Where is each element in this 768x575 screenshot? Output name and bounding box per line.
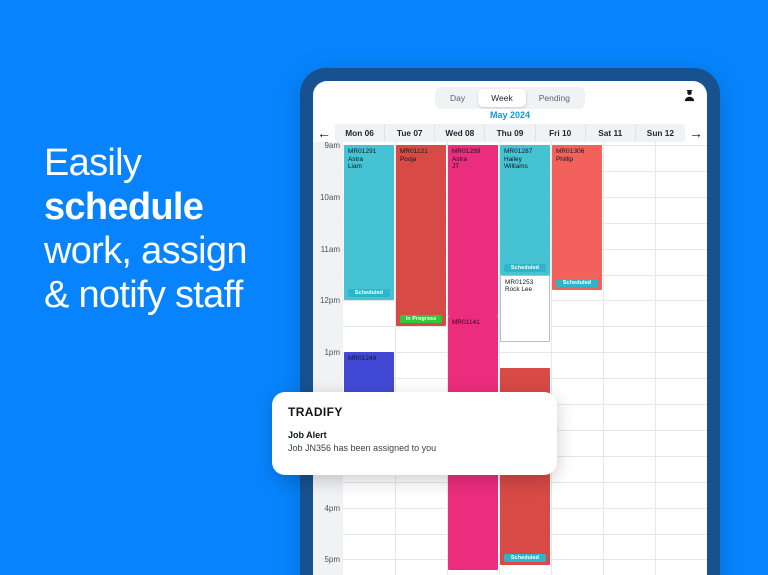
calendar-event[interactable]: MR01306PhillipScheduled — [552, 145, 602, 290]
headline-line-2: schedule — [44, 185, 306, 229]
calendar-grid[interactable]: MR01291AstraLiamScheduledMR01121PoojaIn … — [343, 142, 707, 575]
calendar-event[interactable]: MR01299AstraJT — [448, 145, 498, 316]
page-title: Easily schedule work, assign & notify st… — [44, 141, 306, 317]
arrow-right-icon[interactable]: → — [685, 124, 707, 142]
notification-app-name: TRADIFY — [288, 405, 541, 419]
view-tab-pending[interactable]: Pending — [526, 89, 583, 107]
time-label-4pm: 4pm — [324, 504, 340, 513]
promo-screenshot: Easily schedule work, assign & notify st… — [0, 0, 768, 575]
event-assignee: Liam — [348, 163, 391, 171]
grid-vline — [655, 142, 656, 575]
time-label-12pm: 12pm — [320, 296, 340, 305]
event-assignee: Rock Lee — [505, 286, 546, 294]
event-assignee: Phillip — [556, 156, 599, 164]
day-header-0[interactable]: Mon 06 — [335, 124, 385, 142]
day-header-2[interactable]: Wed 08 — [435, 124, 485, 142]
event-assignee: Hailey Williams — [504, 156, 547, 171]
status-badge: Scheduled — [504, 264, 546, 272]
notification-message: Job JN356 has been assigned to you — [288, 443, 541, 453]
event-job-code: MR01253 — [505, 279, 546, 287]
day-header-5[interactable]: Sat 11 — [586, 124, 636, 142]
event-job-code: MR01291 — [348, 148, 391, 156]
time-label-10am: 10am — [320, 193, 340, 202]
event-assignee: Astra — [348, 156, 391, 164]
day-header-4[interactable]: Fri 10 — [536, 124, 586, 142]
grid-vline — [603, 142, 604, 575]
day-header-1[interactable]: Tue 07 — [385, 124, 435, 142]
status-badge: Scheduled — [504, 554, 546, 562]
headline-line-1: Easily — [44, 141, 306, 185]
time-gutter: 9am10am11am12pm1pm2pm3pm4pm5pm — [313, 142, 343, 575]
status-badge: In Progress — [400, 315, 442, 323]
day-header-row: ← Mon 06Tue 07Wed 08Thu 09Fri 10Sat 11Su… — [313, 124, 707, 142]
current-month-label: May 2024 — [313, 110, 707, 120]
view-tab-week[interactable]: Week — [478, 89, 526, 107]
time-label-1pm: 1pm — [324, 348, 340, 357]
time-label-5pm: 5pm — [324, 555, 340, 564]
event-assignee: Pooja — [400, 156, 443, 164]
event-job-code: MR01121 — [400, 148, 443, 156]
tablet-device-frame: DayWeekPending May 2024 ← Mon 06Tue 07We… — [300, 68, 720, 575]
notification-title: Job Alert — [288, 430, 541, 440]
headline-line-4: & notify staff — [44, 273, 306, 317]
week-calendar[interactable]: 9am10am11am12pm1pm2pm3pm4pm5pm MR01291As… — [313, 142, 707, 575]
view-mode-segmented-control[interactable]: DayWeekPending — [435, 87, 585, 109]
headline-line-3: work, assign — [44, 229, 306, 273]
event-job-code: MR01287 — [504, 148, 547, 156]
notification-toast[interactable]: TRADIFY Job Alert Job JN356 has been ass… — [272, 392, 557, 475]
event-assignee: JT — [452, 163, 495, 171]
event-job-code: MR01306 — [556, 148, 599, 156]
view-tab-day[interactable]: Day — [437, 89, 478, 107]
calendar-event[interactable]: MR01287Hailey WilliamsScheduled — [500, 145, 550, 275]
time-label-11am: 11am — [321, 245, 340, 254]
day-header-6[interactable]: Sun 12 — [636, 124, 685, 142]
arrow-left-icon[interactable]: ← — [313, 124, 335, 142]
day-header-cells: Mon 06Tue 07Wed 08Thu 09Fri 10Sat 11Sun … — [335, 124, 685, 142]
calendar-event[interactable]: MR01121PoojaIn Progress — [396, 145, 446, 326]
time-label-9am: 9am — [324, 141, 340, 150]
event-assignee: Astra — [452, 156, 495, 164]
app-toolbar: DayWeekPending — [313, 81, 707, 109]
person-icon[interactable] — [682, 88, 697, 103]
calendar-event[interactable]: MR01253Rock Lee — [500, 275, 550, 342]
tablet-screen: DayWeekPending May 2024 ← Mon 06Tue 07We… — [313, 81, 707, 575]
event-job-code: MR01141 — [452, 319, 495, 327]
event-job-code: MR01299 — [452, 148, 495, 156]
day-header-3[interactable]: Thu 09 — [485, 124, 535, 142]
grid-hline — [343, 352, 707, 353]
status-badge: Scheduled — [348, 289, 390, 297]
status-badge: Scheduled — [556, 279, 598, 287]
event-job-code: MR01249 — [348, 355, 391, 363]
calendar-event[interactable]: MR01291AstraLiamScheduled — [344, 145, 394, 300]
